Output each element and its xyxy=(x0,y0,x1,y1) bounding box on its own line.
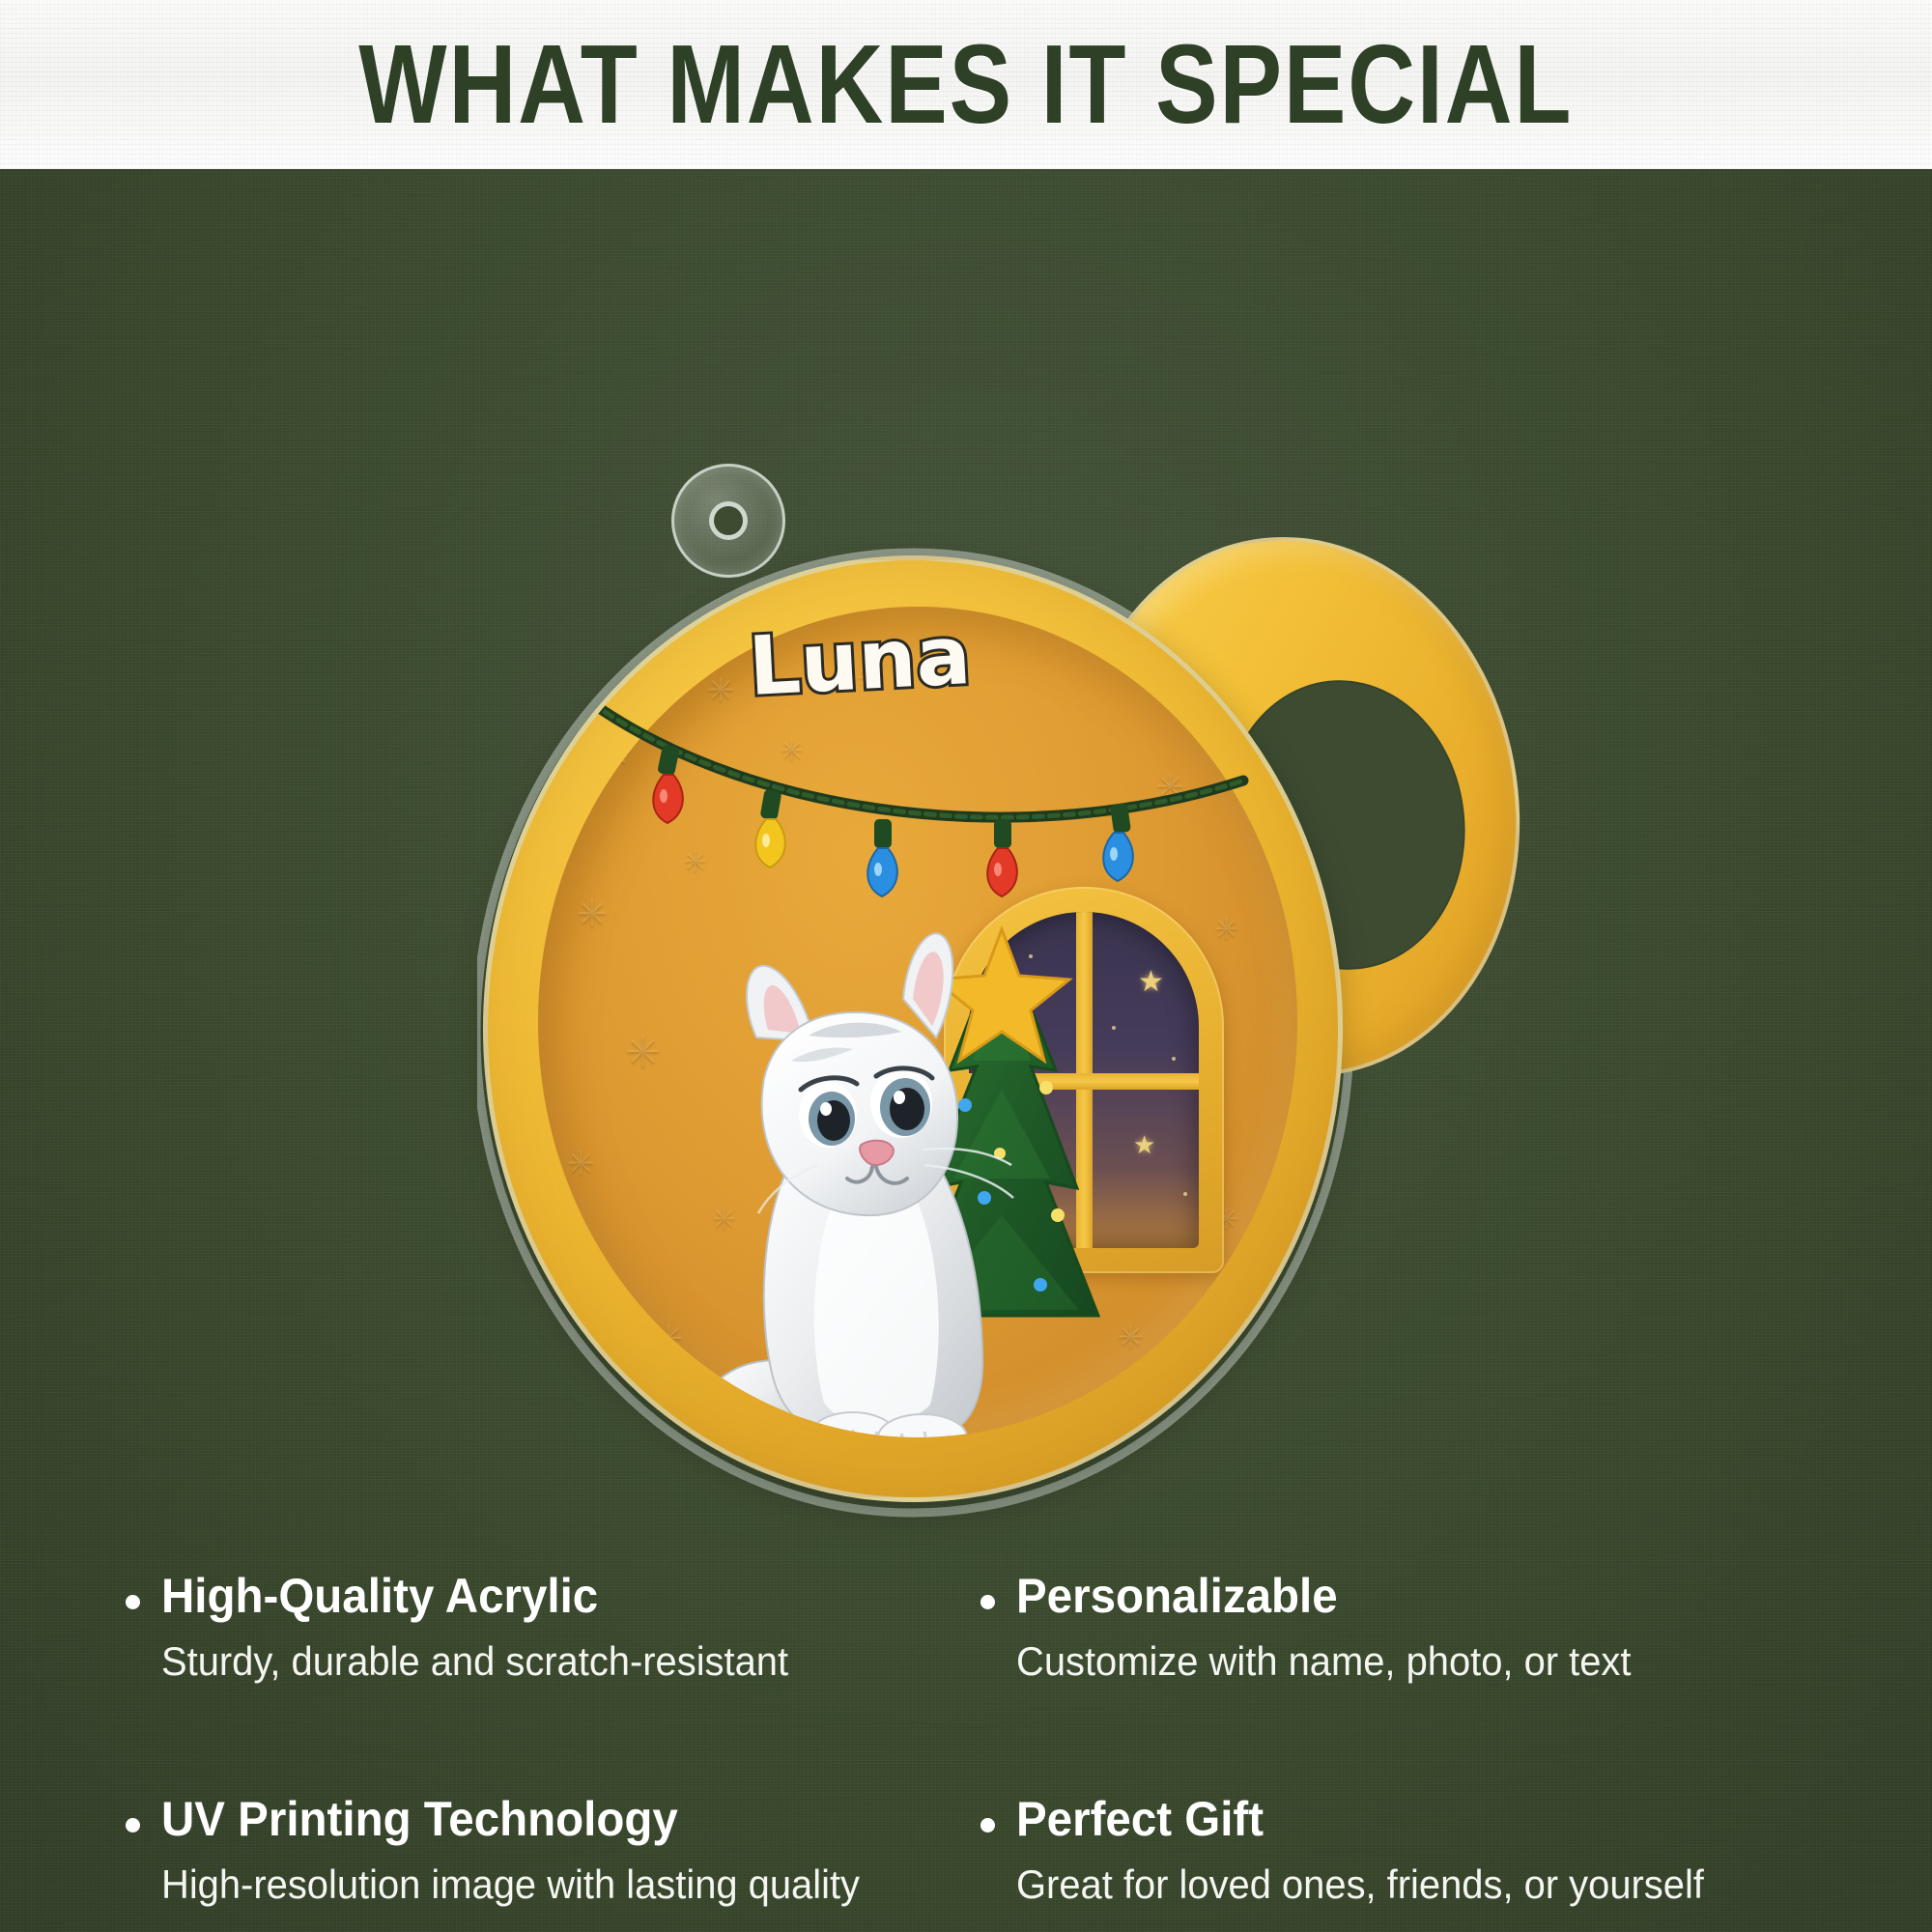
snowflake-emboss-icon: ✳ xyxy=(567,1148,595,1180)
mug-inner-bowl: ✳ ✳ ✳ ✳ ✳ ✳ ✳ ✳ ✳ ✳ ✳ ✳ ✳ ✳ ✳ ✳ xyxy=(538,607,1297,1437)
bullet-icon xyxy=(980,1595,995,1609)
ornament-product-image: ✳ ✳ ✳ ✳ ✳ ✳ ✳ ✳ ✳ ✳ ✳ ✳ ✳ ✳ ✳ ✳ xyxy=(483,526,1507,1531)
feature-item-perfect-gift: Perfect Gift Great for loved ones, frien… xyxy=(980,1793,1826,1932)
feature-heading-row: UV Printing Technology xyxy=(126,1793,971,1845)
hanger-tab xyxy=(671,464,785,578)
sky-dot xyxy=(1172,1057,1176,1061)
header-banner: WHAT MAKES IT SPECIAL xyxy=(0,0,1932,169)
hanger-hole xyxy=(709,501,748,540)
product-showcase-canvas: ✳ ✳ ✳ ✳ ✳ ✳ ✳ ✳ ✳ ✳ ✳ ✳ ✳ ✳ ✳ ✳ xyxy=(0,169,1932,1932)
snowflake-emboss-icon: ✳ xyxy=(683,848,707,877)
feature-item-uv-printing-technology: UV Printing Technology High-resolution i… xyxy=(126,1793,971,1932)
snowflake-emboss-icon: ✳ xyxy=(780,737,804,766)
feature-description: Sturdy, durable and scratch-resistant xyxy=(161,1639,930,1684)
feature-title: High-Quality Acrylic xyxy=(161,1570,598,1622)
feature-heading-row: High-Quality Acrylic xyxy=(126,1570,971,1622)
feature-description: High-resolution image with lasting quali… xyxy=(161,1862,930,1907)
feature-item-personalizable: Personalizable Customize with name, phot… xyxy=(980,1570,1826,1752)
sky-dot xyxy=(1183,1192,1187,1196)
kitten-illustration xyxy=(664,906,1069,1437)
feature-description: Great for loved ones, friends, or yourse… xyxy=(1016,1862,1785,1907)
snowflake-emboss-icon: ✳ xyxy=(1156,771,1184,804)
feature-title: Personalizable xyxy=(1016,1570,1338,1622)
feature-title: UV Printing Technology xyxy=(161,1793,678,1845)
bullet-icon xyxy=(980,1818,995,1833)
feature-list: High-Quality Acrylic Sturdy, durable and… xyxy=(0,1570,1932,1932)
bullet-icon xyxy=(126,1818,140,1833)
feature-title: Perfect Gift xyxy=(1016,1793,1264,1845)
snowflake-emboss-icon: ✳ xyxy=(577,896,608,933)
bullet-icon xyxy=(126,1595,140,1609)
feature-heading-row: Personalizable xyxy=(980,1570,1826,1622)
snowflake-emboss-icon: ✳ xyxy=(596,732,632,775)
page-title: WHAT MAKES IT SPECIAL xyxy=(358,28,1573,140)
mug-body: ✳ ✳ ✳ ✳ ✳ ✳ ✳ ✳ ✳ ✳ ✳ ✳ ✳ ✳ ✳ ✳ xyxy=(483,555,1343,1502)
feature-description: Customize with name, photo, or text xyxy=(1016,1639,1785,1684)
snowflake-emboss-icon: ✳ xyxy=(625,1032,661,1074)
feature-heading-row: Perfect Gift xyxy=(980,1793,1826,1845)
feature-item-high-quality-acrylic: High-Quality Acrylic Sturdy, durable and… xyxy=(126,1570,971,1752)
snowflake-emboss-icon: ✳ xyxy=(1214,916,1238,945)
